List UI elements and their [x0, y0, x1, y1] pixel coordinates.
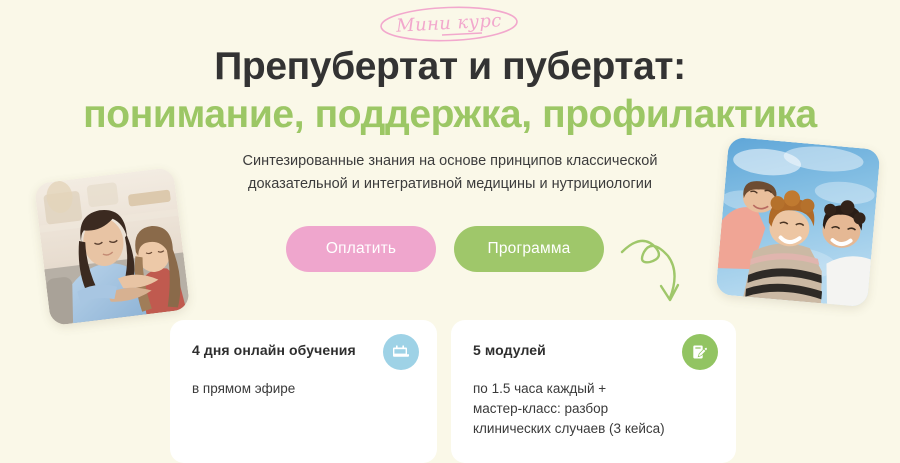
card-body-line: мастер-класс: разбор	[473, 399, 716, 419]
headline-line-1: Препубертат и пубертат:	[0, 44, 900, 90]
cta-button-group: Оплатить Программа	[286, 226, 604, 272]
program-button[interactable]: Программа	[454, 226, 604, 272]
card-body: по 1.5 часа каждый + мастер-класс: разбо…	[473, 379, 716, 439]
info-card-group: 4 дня онлайн обучения в прямом эфире 5 м…	[170, 320, 736, 463]
curved-down-arrow-icon	[612, 228, 692, 313]
subtitle-line-2: доказательной и интегративной медицины и…	[150, 173, 750, 196]
calendar-icon	[383, 334, 419, 370]
card-body-line: по 1.5 часа каждый +	[473, 379, 716, 399]
page-title: Препубертат и пубертат: понимание, подде…	[0, 44, 900, 138]
page-subtitle: Синтезированные знания на основе принцип…	[150, 150, 750, 196]
card-body: в прямом эфире	[192, 379, 417, 399]
note-pencil-icon	[682, 334, 718, 370]
card-body-line: в прямом эфире	[192, 379, 417, 399]
card-title: 5 модулей	[473, 342, 716, 358]
badge-label: Мини курс	[375, 0, 523, 48]
landing-hero: Мини курс Препубертат и пубертат: понима…	[0, 0, 900, 463]
pay-button[interactable]: Оплатить	[286, 226, 436, 272]
mini-course-badge: Мини курс	[376, 4, 522, 44]
note-pencil-icon-glyph	[690, 342, 710, 362]
calendar-icon-glyph	[391, 342, 411, 362]
card-body-line: клинических случаев (3 кейса)	[473, 419, 716, 439]
headline-line-2: понимание, поддержка, профилактика	[0, 92, 900, 138]
subtitle-line-1: Синтезированные знания на основе принцип…	[150, 150, 750, 173]
info-card-days: 4 дня онлайн обучения в прямом эфире	[170, 320, 437, 463]
info-card-modules: 5 модулей по 1.5 часа каждый + мастер-кл…	[451, 320, 736, 463]
